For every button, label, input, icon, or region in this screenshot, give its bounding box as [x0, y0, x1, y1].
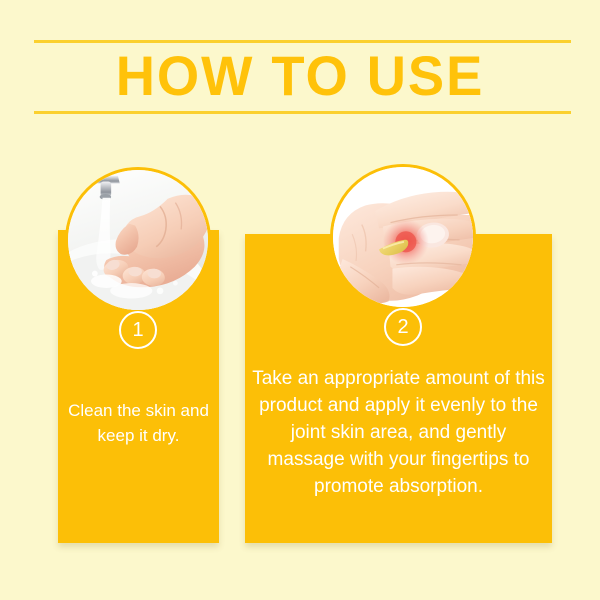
hand-applying-cream-icon	[333, 167, 473, 307]
page-title: HOW TO USE	[9, 42, 591, 110]
title-rule-bottom	[34, 111, 571, 114]
step-number-badge-2: 2	[384, 308, 422, 346]
step-1-text: Clean the skin and keep it dry.	[58, 398, 219, 448]
hands-washing-icon	[68, 170, 208, 310]
step-2-photo	[330, 164, 476, 310]
step-2-text: Take an appropriate amount of this produ…	[251, 365, 546, 500]
step-number-badge-1: 1	[119, 311, 157, 349]
how-to-use-poster: HOW TO USE	[0, 0, 600, 600]
step-1-photo	[65, 167, 211, 313]
header: HOW TO USE	[0, 40, 600, 120]
